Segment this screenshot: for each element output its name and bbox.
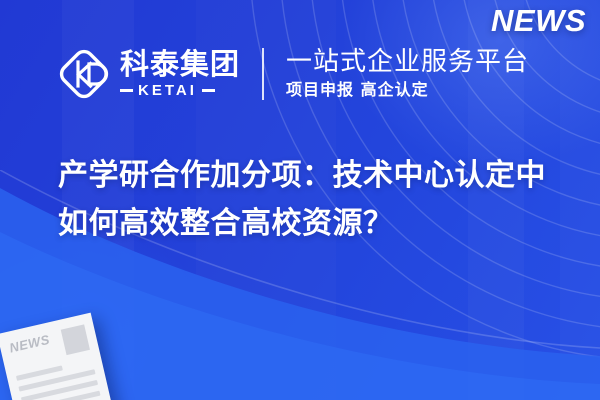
brand-lockup[interactable]: 科泰集团 KETAI xyxy=(58,46,240,102)
newspaper-text-lines xyxy=(16,358,103,400)
header-divider xyxy=(262,48,264,100)
newspaper-title: NEWS xyxy=(8,333,51,355)
company-name-en-row: KETAI xyxy=(120,82,240,99)
tagline-primary: 一站式企业服务平台 xyxy=(286,48,529,77)
wordmark-dash-left xyxy=(120,89,133,92)
newspaper-thumbnail-block xyxy=(61,324,90,355)
news-banner: 科泰集团 KETAI 一站式企业服务平台 项目申报 高企认定 NEWS 产学研合… xyxy=(0,0,600,400)
newspaper-illustration: NEWS xyxy=(0,313,115,400)
company-name-cn: 科泰集团 xyxy=(120,49,240,79)
wordmark-dash-right xyxy=(202,89,215,92)
tagline-secondary: 项目申报 高企认定 xyxy=(286,80,529,101)
tagline-block: 一站式企业服务平台 项目申报 高企认定 xyxy=(286,48,529,101)
brand-wordmark: 科泰集团 KETAI xyxy=(120,49,240,99)
ketai-diamond-monogram-logo-icon xyxy=(58,46,110,102)
headline-text: 产学研合作加分项：技术中心认定中如何高效整合高校资源？ xyxy=(58,152,568,248)
banner-header: 科泰集团 KETAI 一站式企业服务平台 项目申报 高企认定 xyxy=(0,38,600,110)
company-name-en: KETAI xyxy=(138,82,197,99)
news-badge: NEWS xyxy=(491,3,586,39)
